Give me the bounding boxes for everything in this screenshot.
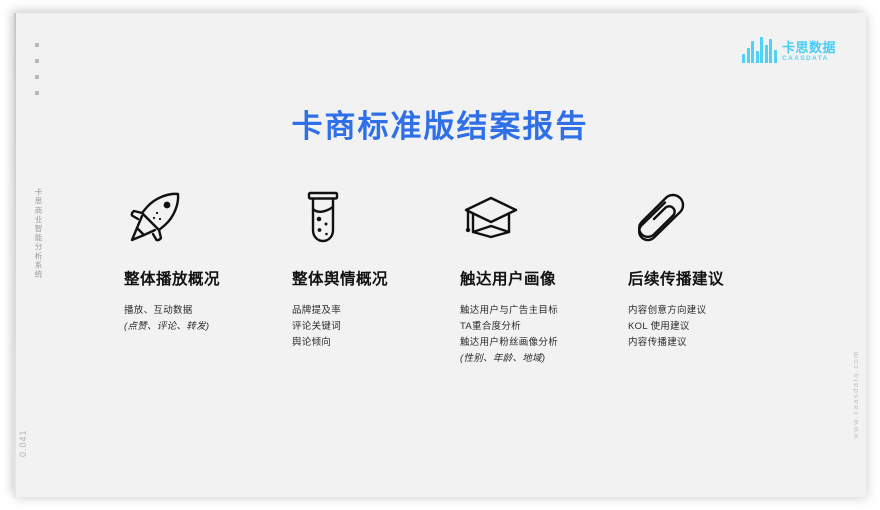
graduation-cap-icon [460,181,628,253]
feature-line: 内容创意方向建议 [628,303,796,319]
left-rail: 卡思商业智能分析系统 0.041 [14,13,60,497]
feature-heading: 后续传播建议 [628,267,796,289]
feature-heading: 整体播放概况 [124,267,292,289]
feature-columns: 整体播放概况 播放、互动数据 (点赞、评论、转发) [124,181,834,367]
feature-lines: 品牌提及率 评论关键词 舆论倾向 [292,303,460,351]
rail-dot [35,59,39,63]
logo-bars-icon [742,37,777,63]
feature-column: 后续传播建议 内容创意方向建议 KOL 使用建议 内容传播建议 [628,181,796,367]
feature-line: (性别、年龄、地域) [460,351,628,367]
feature-line: 触达用户粉丝画像分析 [460,335,628,351]
rail-dot [35,75,39,79]
feature-line: 触达用户与广告主目标 [460,303,628,319]
rail-dot [35,43,39,47]
rail-dot [35,91,39,95]
feature-line: (点赞、评论、转发) [124,319,292,335]
paperclip-icon [628,181,796,253]
logo-text-block: 卡思数据 CAASDATA [782,41,836,64]
feature-lines: 触达用户与广告主目标 TA重合度分析 触达用户粉丝画像分析 (性别、年龄、地域) [460,303,628,367]
test-tube-icon [292,181,460,253]
feature-line: KOL 使用建议 [628,319,796,335]
rail-vertical-label: 卡思商业智能分析系统 [33,188,44,279]
rail-divider-line [14,13,16,497]
rocket-icon [124,181,292,253]
slide-canvas: 卡思商业智能分析系统 0.041 www.caasdata.com 卡思数据 C… [14,13,866,497]
feature-lines: 内容创意方向建议 KOL 使用建议 内容传播建议 [628,303,796,351]
feature-heading: 整体舆情概况 [292,267,460,289]
feature-line: 评论关键词 [292,319,460,335]
feature-column: 触达用户画像 触达用户与广告主目标 TA重合度分析 触达用户粉丝画像分析 (性别… [460,181,628,367]
logo-en-text: CAASDATA [782,56,836,63]
feature-column: 整体舆情概况 品牌提及率 评论关键词 舆论倾向 [292,181,460,367]
feature-line: TA重合度分析 [460,319,628,335]
feature-lines: 播放、互动数据 (点赞、评论、转发) [124,303,292,335]
site-url-watermark: www.caasdata.com [851,350,860,439]
page-title: 卡商标准版结案报告 [14,101,866,146]
feature-line: 品牌提及率 [292,303,460,319]
page-number: 0.041 [18,429,28,457]
feature-line: 内容传播建议 [628,335,796,351]
feature-line: 舆论倾向 [292,335,460,351]
logo-cn-text: 卡思数据 [782,41,836,54]
feature-column: 整体播放概况 播放、互动数据 (点赞、评论、转发) [124,181,292,367]
feature-line: 播放、互动数据 [124,303,292,319]
feature-heading: 触达用户画像 [460,267,628,289]
rail-dot-group [35,43,39,95]
slide-root: 卡思商业智能分析系统 0.041 www.caasdata.com 卡思数据 C… [0,0,880,510]
brand-logo: 卡思数据 CAASDATA [742,37,836,63]
